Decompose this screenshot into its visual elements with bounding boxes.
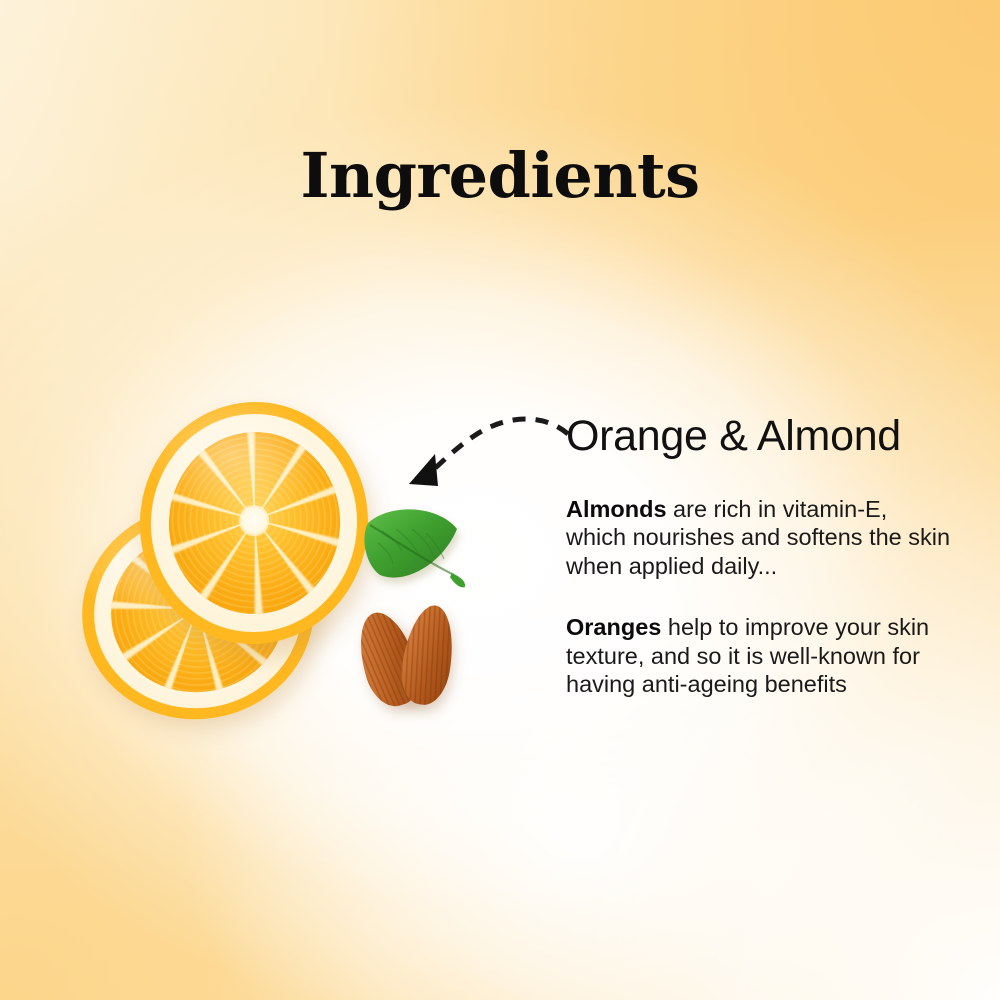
paragraph-almonds: Almonds are rich in vitamin-E, which nou… bbox=[566, 495, 951, 581]
almond-group bbox=[360, 595, 480, 710]
leaf-icon bbox=[360, 505, 472, 595]
almond-right-image bbox=[396, 602, 459, 708]
paragraph-oranges-lead: Oranges bbox=[566, 614, 661, 640]
ingredient-copy: Orange & Almond Almonds are rich in vita… bbox=[566, 414, 966, 722]
paragraph-almonds-lead: Almonds bbox=[566, 496, 667, 522]
page-title: Ingredients bbox=[0, 145, 1000, 207]
ingredients-poster: Ingredients bbox=[0, 0, 1000, 1000]
curved-dashed-arrow-icon bbox=[405, 408, 580, 493]
ingredient-heading: Orange & Almond bbox=[566, 414, 966, 460]
paragraph-oranges: Oranges help to improve your skin textur… bbox=[566, 613, 951, 699]
